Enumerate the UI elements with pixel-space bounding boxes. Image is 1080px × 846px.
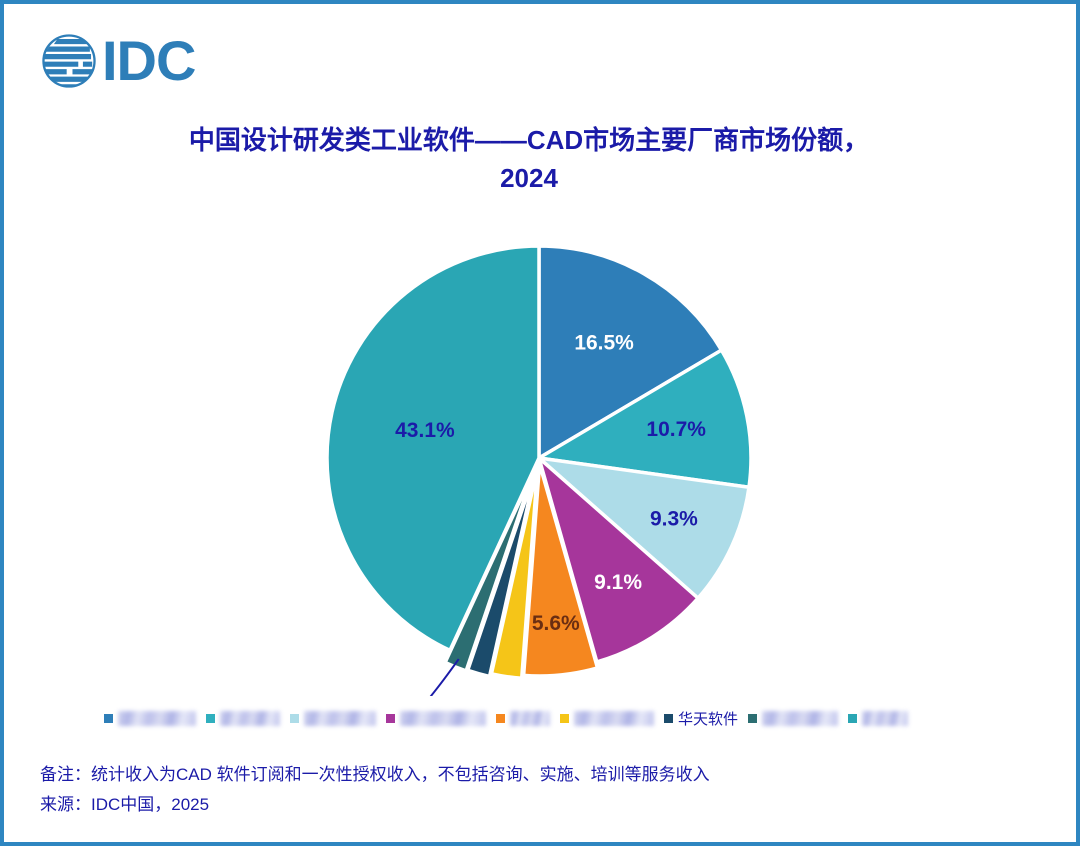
legend-item[interactable] <box>496 711 550 726</box>
legend-swatch-icon <box>206 714 215 723</box>
legend-item[interactable] <box>748 711 838 726</box>
page-title: 中国设计研发类工业软件——CAD市场主要厂商市场份额， 2024 <box>114 122 944 197</box>
idc-wordmark: IDC <box>102 33 195 89</box>
title-line-1: 中国设计研发类工业软件——CAD市场主要厂商市场份额， <box>114 122 944 160</box>
pie-slice-label: 10.7% <box>646 418 706 441</box>
pie-slice-label: 43.1% <box>395 419 455 442</box>
legend-swatch-icon <box>664 714 673 723</box>
chart-legend: 华天软件 <box>104 704 1004 732</box>
idc-logo: IDC <box>40 26 240 96</box>
legend-swatch-icon <box>104 714 113 723</box>
legend-item-label <box>862 711 908 726</box>
legend-swatch-icon <box>748 714 757 723</box>
legend-item-label <box>510 711 550 726</box>
legend-swatch-icon <box>560 714 569 723</box>
legend-item-label <box>304 711 376 726</box>
legend-item-label <box>574 711 654 726</box>
legend-item-label <box>762 711 838 726</box>
legend-item-label: 华天软件 <box>678 708 738 729</box>
legend-item[interactable] <box>848 711 908 726</box>
footnote-note: 备注：统计收入为CAD 软件订阅和一次性授权收入，不包括咨询、实施、培训等服务收… <box>40 760 1040 790</box>
idc-globe-icon <box>40 32 98 90</box>
legend-item[interactable] <box>290 711 376 726</box>
legend-item[interactable] <box>104 711 196 726</box>
footnote-source: 来源：IDC中国，2025 <box>40 790 1040 820</box>
legend-item-label <box>220 711 280 726</box>
pie-chart-svg: 16.5%10.7%9.3%9.1%5.6%2.3%1.7%1.7%43.1% <box>284 236 794 696</box>
pie-chart: 16.5%10.7%9.3%9.1%5.6%2.3%1.7%1.7%43.1% <box>284 236 794 696</box>
legend-item-label <box>118 711 196 726</box>
chart-card: IDC 中国设计研发类工业软件——CAD市场主要厂商市场份额， 2024 16.… <box>0 0 1080 846</box>
legend-item[interactable] <box>206 711 280 726</box>
legend-item[interactable] <box>560 711 654 726</box>
pie-slice-label: 5.6% <box>532 612 580 635</box>
title-line-2: 2024 <box>114 160 944 198</box>
legend-item[interactable] <box>386 711 486 726</box>
legend-swatch-icon <box>848 714 857 723</box>
pie-slice-label: 9.3% <box>650 507 698 530</box>
pie-slice-label: 16.5% <box>574 331 634 354</box>
legend-swatch-icon <box>290 714 299 723</box>
legend-swatch-icon <box>496 714 505 723</box>
legend-item-label <box>400 711 486 726</box>
legend-item[interactable]: 华天软件 <box>664 708 738 729</box>
pie-slice-label: 9.1% <box>594 571 642 594</box>
chart-footnotes: 备注：统计收入为CAD 软件订阅和一次性授权收入，不包括咨询、实施、培训等服务收… <box>40 760 1040 820</box>
legend-swatch-icon <box>386 714 395 723</box>
